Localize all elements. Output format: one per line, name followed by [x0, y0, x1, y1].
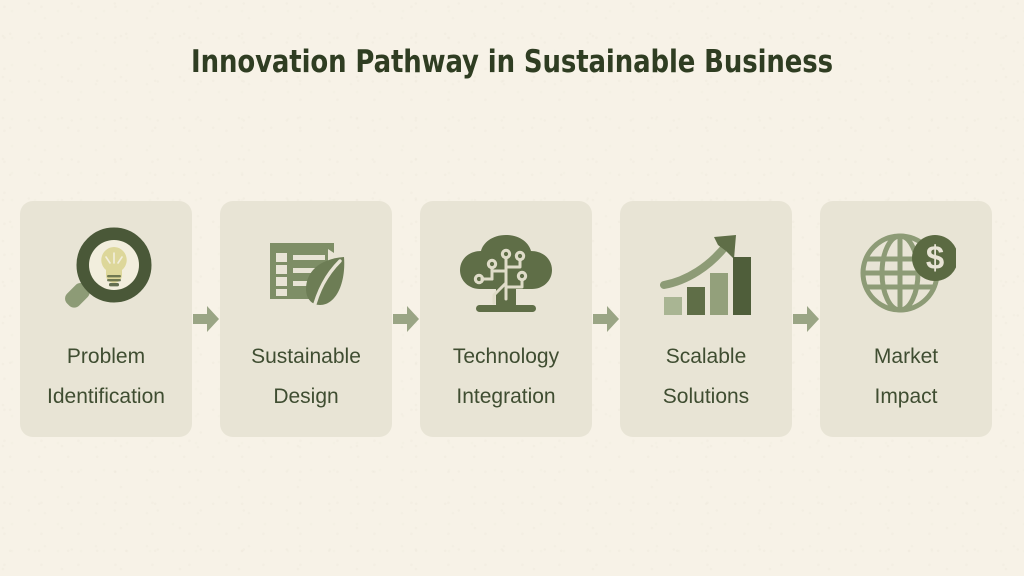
globe-dollar-icon: $ [854, 227, 958, 323]
connector-arrow-3 [592, 201, 620, 437]
flow-step-market-impact[interactable]: $ Market Impact [820, 201, 992, 437]
flow-step-technology-integration[interactable]: Technology Integration [420, 201, 592, 437]
flow-step-problem-identification[interactable]: Problem Identification [20, 201, 192, 437]
flow-step-label: Technology Integration [447, 337, 565, 417]
arrow-right-icon [392, 304, 420, 334]
magnifier-lightbulb-icon [54, 227, 158, 323]
flow-step-label: Market Impact [868, 337, 944, 417]
flow-step-sustainable-design[interactable]: Sustainable Design [220, 201, 392, 437]
flow-step-label: Problem Identification [41, 337, 171, 417]
svg-text:$: $ [926, 239, 944, 276]
connector-arrow-4 [792, 201, 820, 437]
flow-step-label: Scalable Solutions [657, 337, 755, 417]
arrow-right-icon [192, 304, 220, 334]
connector-arrow-2 [392, 201, 420, 437]
connector-arrow-1 [192, 201, 220, 437]
bar-chart-growth-arrow-icon [654, 227, 758, 323]
flow-step-scalable-solutions[interactable]: Scalable Solutions [620, 201, 792, 437]
circuit-tree-icon [454, 227, 558, 323]
arrow-right-icon [792, 304, 820, 334]
process-flow-diagram: Problem Identification Sustainable Desig… [20, 201, 968, 437]
page-title: Innovation Pathway in Sustainable Busine… [36, 44, 988, 80]
flow-step-label: Sustainable Design [245, 337, 367, 417]
blueprint-leaf-icon [254, 227, 358, 323]
arrow-right-icon [592, 304, 620, 334]
